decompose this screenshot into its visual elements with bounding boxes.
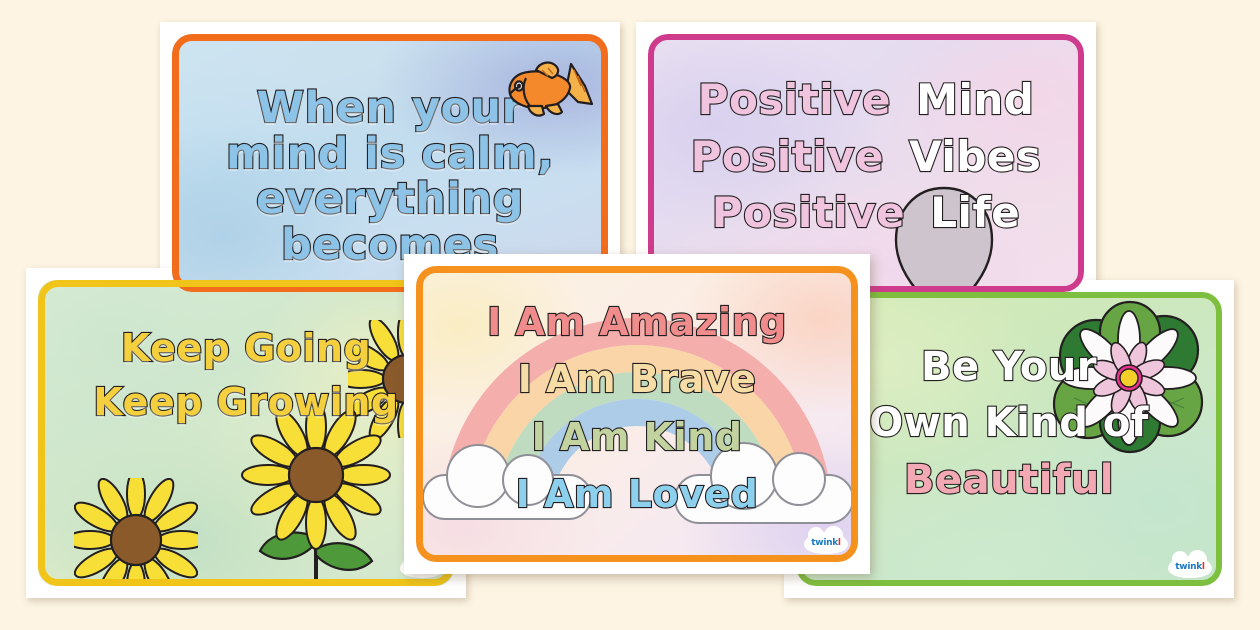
headline-word: Positive bbox=[712, 188, 905, 237]
headline-line: everything bbox=[172, 177, 608, 223]
twinkl-logo: twinkl bbox=[804, 532, 848, 554]
headline-line: Keep Growing bbox=[38, 382, 454, 422]
headline-word: Vibes bbox=[909, 132, 1041, 181]
headline-word: Positive bbox=[691, 132, 884, 181]
headline-row: Positive Life bbox=[648, 191, 1084, 236]
poster-inner: I Am Amazing I Am Brave I Am Kind I Am L… bbox=[416, 266, 858, 562]
poster-inner: Keep Going Keep Growing twinkl bbox=[38, 280, 454, 586]
sunflower-icon bbox=[74, 478, 198, 586]
twinkl-logo: twinkl bbox=[1168, 556, 1212, 578]
twinkl-wordmark: twinkl bbox=[1168, 556, 1212, 578]
headline-line: Keep Going bbox=[38, 328, 454, 368]
affirmation-line: I Am Kind bbox=[416, 417, 858, 457]
twinkl-wordmark: twinkl bbox=[804, 532, 848, 554]
poster-headline: Keep Going Keep Growing bbox=[38, 328, 454, 437]
poster-headline: Positive Mind Positive Vibes Positive Li… bbox=[648, 78, 1084, 248]
affirmation-line: I Am Loved bbox=[416, 474, 858, 514]
headline-word: Positive bbox=[698, 75, 891, 124]
poster-headline: I Am Amazing I Am Brave I Am Kind I Am L… bbox=[416, 302, 858, 531]
goldfish-icon bbox=[486, 56, 594, 124]
headline-row: Positive Vibes bbox=[648, 135, 1084, 180]
headline-line: mind is calm, bbox=[172, 132, 608, 178]
affirmation-line: I Am Brave bbox=[416, 359, 858, 399]
affirmation-line: I Am Amazing bbox=[416, 302, 858, 342]
poster-keep-going-keep-growing[interactable]: Keep Going Keep Growing twinkl bbox=[26, 268, 466, 598]
headline-row: Positive Mind bbox=[648, 78, 1084, 123]
headline-word: Life bbox=[930, 188, 1020, 237]
headline-word: Mind bbox=[916, 75, 1034, 124]
poster-collage: When your mind is calm, everything becom… bbox=[0, 0, 1260, 630]
poster-i-am-amazing[interactable]: I Am Amazing I Am Brave I Am Kind I Am L… bbox=[404, 254, 870, 574]
